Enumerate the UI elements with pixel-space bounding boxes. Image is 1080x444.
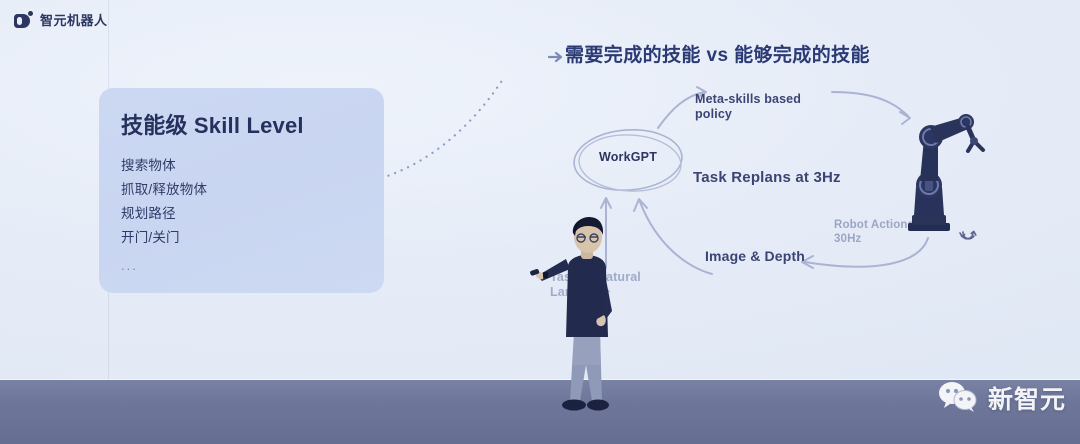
list-item-more: ... [121,250,384,278]
list-item: 抓取/释放物体 [121,178,384,202]
label-task-replans: Task Replans at 3Hz [693,170,841,185]
slide-headline: 需要完成的技能 vs 能够完成的技能 [565,40,870,67]
wechat-icon [937,381,979,415]
workgpt-node-label: WorkGPT [578,150,678,164]
list-item: 搜索物体 [121,154,384,178]
arrow-right-icon [548,50,564,64]
skill-card-list: 搜索物体 抓取/释放物体 规划路径 开门/关门 ... [121,154,384,278]
list-item: 规划路径 [121,202,384,226]
watermark-text: 新智元 [988,380,1066,416]
robotic-arm-icon [890,105,990,240]
label-image-depth: Image & Depth [705,248,805,265]
brand-name: 智元机器人 [40,10,108,29]
watermark: 新智元 [937,380,1066,416]
label-meta-skills: Meta-skills based policy [695,92,815,122]
brand-logo: 智元机器人 [14,10,108,29]
speaker-on-stage [528,215,648,444]
skill-card-title: 技能级 Skill Level [121,114,384,138]
skill-level-card: 技能级 Skill Level 搜索物体 抓取/释放物体 规划路径 开门/关门 … [99,88,384,293]
robot-logo-icon [14,11,33,29]
stage-background: 智元机器人 技能级 Skill Level 搜索物体 抓取/释放物体 规划路径 … [0,0,1080,444]
list-item: 开门/关门 [121,226,384,250]
